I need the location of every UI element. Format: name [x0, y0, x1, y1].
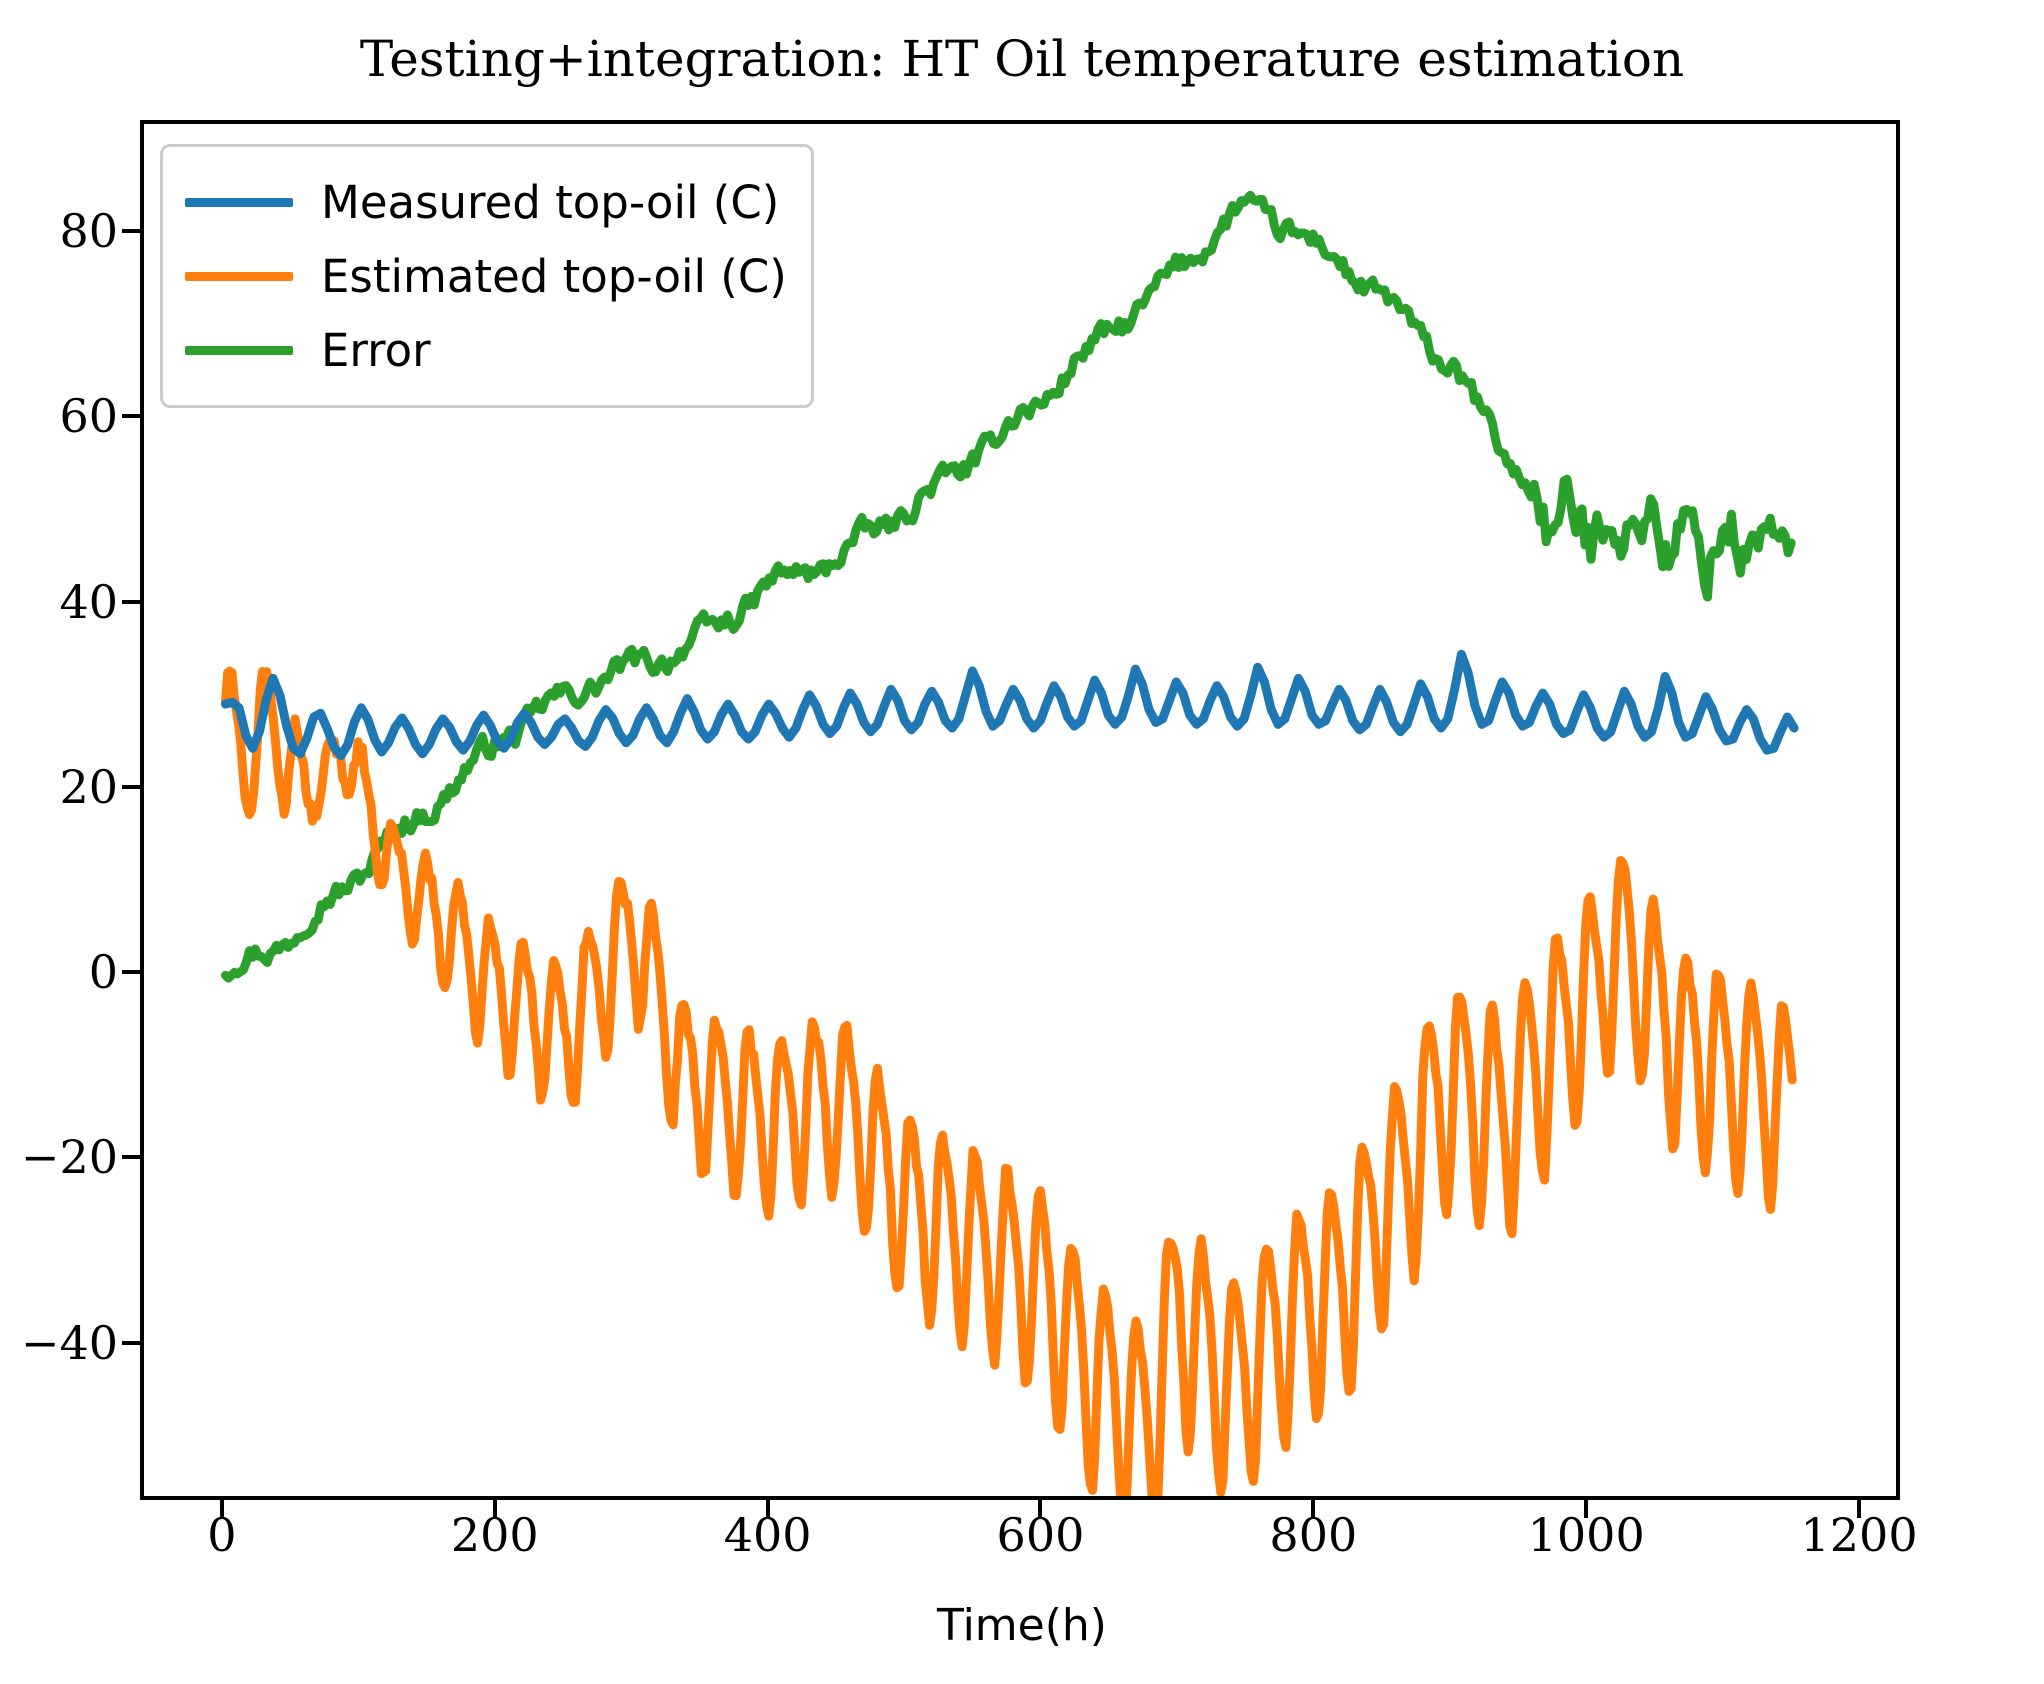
x-tick-mark: [493, 1500, 497, 1518]
x-axis-label: Time(h): [0, 1600, 2044, 1651]
y-tick-label: −40: [21, 1320, 118, 1366]
series-line: [225, 671, 1792, 1496]
x-tick-mark: [1311, 1500, 1315, 1518]
x-tick-label: 0: [207, 1512, 236, 1558]
x-axis-tick-labels: 020040060080010001200: [140, 1512, 1900, 1582]
legend-item[interactable]: Estimated top-oil (C): [185, 239, 787, 313]
legend-swatch-icon: [185, 198, 293, 207]
x-tick-label: 1000: [1528, 1512, 1645, 1558]
x-tick-label: 200: [451, 1512, 539, 1558]
legend-item[interactable]: Error: [185, 313, 787, 387]
legend-item-label: Measured top-oil (C): [321, 180, 779, 225]
chart-legend: Measured top-oil (C)Estimated top-oil (C…: [160, 144, 814, 408]
x-tick-mark: [220, 1500, 224, 1518]
legend-swatch-icon: [185, 272, 293, 281]
y-tick-mark: [122, 414, 142, 418]
x-tick-mark: [1584, 1500, 1588, 1518]
y-tick-label: 80: [59, 208, 118, 254]
x-tick-mark: [766, 1500, 770, 1518]
y-tick-mark: [122, 785, 142, 789]
y-tick-label: −20: [21, 1134, 118, 1180]
x-tick-mark: [1857, 1500, 1861, 1518]
y-axis-tick-labels: −40−20020406080: [0, 120, 118, 1500]
y-tick-mark: [122, 970, 142, 974]
series-line: [225, 654, 1794, 755]
x-tick-mark: [1038, 1500, 1042, 1518]
y-tick-label: 0: [89, 949, 118, 995]
y-tick-mark: [122, 1155, 142, 1159]
figure-canvas: Testing+integration: HT Oil temperature …: [0, 0, 2044, 1684]
legend-item[interactable]: Measured top-oil (C): [185, 165, 787, 239]
y-tick-mark: [122, 600, 142, 604]
y-tick-mark: [122, 229, 142, 233]
x-tick-label: 800: [1269, 1512, 1357, 1558]
x-tick-label: 1200: [1801, 1512, 1918, 1558]
y-tick-mark: [122, 1341, 142, 1345]
legend-swatch-icon: [185, 346, 293, 355]
x-tick-label: 600: [997, 1512, 1085, 1558]
y-tick-label: 20: [59, 764, 118, 810]
x-tick-label: 400: [724, 1512, 812, 1558]
y-tick-label: 60: [59, 393, 118, 439]
legend-item-label: Estimated top-oil (C): [321, 254, 787, 299]
page-title: Testing+integration: HT Oil temperature …: [0, 30, 2044, 88]
y-tick-label: 40: [59, 579, 118, 625]
legend-item-label: Error: [321, 328, 431, 373]
